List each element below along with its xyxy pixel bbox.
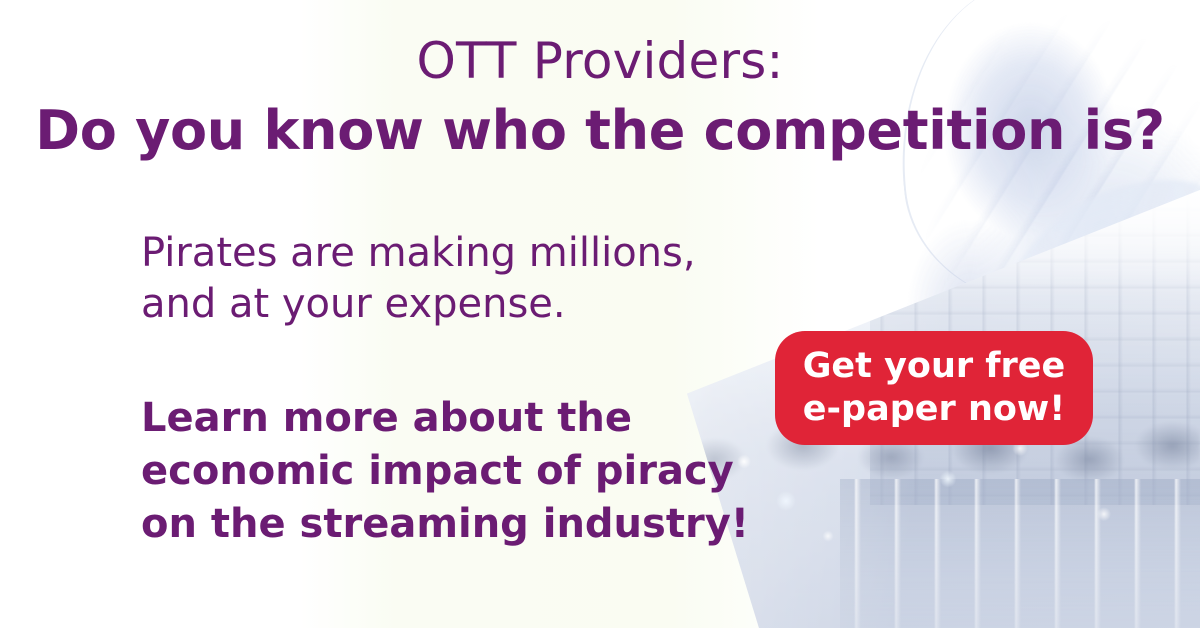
subcopy-line-1: Pirates are making millions, <box>141 228 696 279</box>
subcopy-block: Pirates are making millions, and at your… <box>141 228 696 330</box>
lead-copy-line-3: on the streaming industry! <box>141 498 749 551</box>
cta-button-line-1: Get your free <box>803 345 1066 388</box>
get-free-epaper-button[interactable]: Get your free e-paper now! <box>775 331 1093 445</box>
cta-button-line-2: e-paper now! <box>803 388 1065 431</box>
promo-banner: OTT Providers: Do you know who the compe… <box>0 0 1200 628</box>
headline-line-2: Do you know who the competition is? <box>0 102 1200 160</box>
subcopy-line-2: and at your expense. <box>141 279 696 330</box>
headline: OTT Providers: Do you know who the compe… <box>0 34 1200 160</box>
lead-copy-line-1: Learn more about the <box>141 392 749 445</box>
lead-copy-line-2: economic impact of piracy <box>141 445 749 498</box>
cityscape-waterfront <box>840 479 1200 628</box>
headline-line-1: OTT Providers: <box>0 34 1200 88</box>
lead-copy-block: Learn more about the economic impact of … <box>141 392 749 550</box>
